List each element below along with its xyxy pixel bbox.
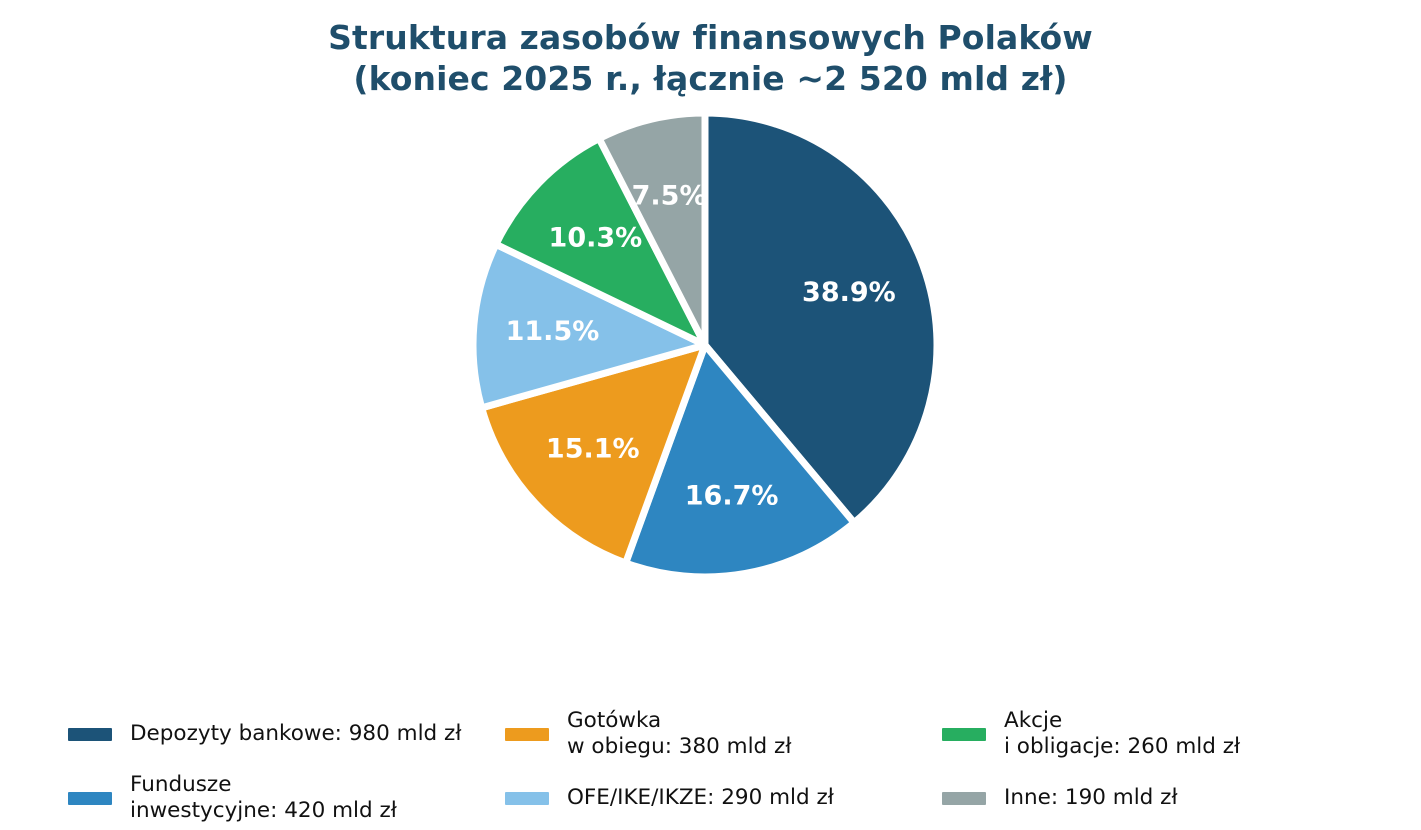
legend-item[interactable]: Depozyty bankowe: 980 mld zł bbox=[68, 705, 495, 763]
pie-slice-percent-label: 38.9% bbox=[802, 277, 896, 308]
legend-color-swatch bbox=[68, 728, 112, 741]
legend-item-label: Akcje i obligacje: 260 mld zł bbox=[1004, 708, 1240, 760]
chart-title-block: Struktura zasobów finansowych Polaków (k… bbox=[0, 0, 1421, 100]
legend-color-swatch bbox=[942, 728, 986, 741]
legend-color-swatch bbox=[505, 792, 549, 805]
legend-item[interactable]: Akcje i obligacje: 260 mld zł bbox=[942, 705, 1369, 763]
legend-item-label: OFE/IKE/IKZE: 290 mld zł bbox=[567, 785, 834, 811]
legend-item[interactable]: Gotówka w obiegu: 380 mld zł bbox=[505, 705, 932, 763]
legend-item-label: Fundusze inwestycyjne: 420 mld zł bbox=[130, 772, 397, 824]
legend-color-swatch bbox=[68, 792, 112, 805]
pie-chart-figure: Struktura zasobów finansowych Polaków (k… bbox=[0, 0, 1421, 830]
chart-legend: Depozyty bankowe: 980 mld złFundusze inw… bbox=[0, 702, 1421, 830]
legend-color-swatch bbox=[505, 728, 549, 741]
legend-color-swatch bbox=[942, 792, 986, 805]
legend-item-label: Gotówka w obiegu: 380 mld zł bbox=[567, 708, 791, 760]
pie-slice-percent-label: 16.7% bbox=[685, 480, 779, 511]
pie-svg: 38.9%16.7%15.1%11.5%10.3%7.5% bbox=[0, 100, 1421, 660]
legend-item-label: Inne: 190 mld zł bbox=[1004, 785, 1178, 811]
legend-item[interactable]: Fundusze inwestycyjne: 420 mld zł bbox=[68, 769, 495, 827]
page-title: Struktura zasobów finansowych Polaków (k… bbox=[0, 18, 1421, 100]
legend-item[interactable]: OFE/IKE/IKZE: 290 mld zł bbox=[505, 769, 932, 827]
legend-item-label: Depozyty bankowe: 980 mld zł bbox=[130, 721, 461, 747]
legend-item[interactable]: Inne: 190 mld zł bbox=[942, 769, 1369, 827]
pie-slice-percent-label: 7.5% bbox=[632, 180, 707, 211]
pie-plot-area: 38.9%16.7%15.1%11.5%10.3%7.5% bbox=[0, 100, 1421, 702]
pie-slice-percent-label: 10.3% bbox=[549, 222, 643, 253]
pie-slice-percent-label: 15.1% bbox=[546, 433, 640, 464]
pie-slice-percent-label: 11.5% bbox=[506, 316, 600, 347]
